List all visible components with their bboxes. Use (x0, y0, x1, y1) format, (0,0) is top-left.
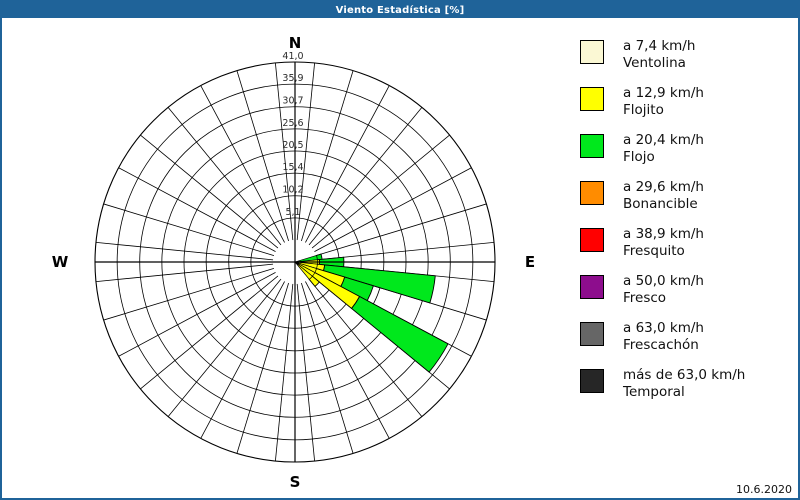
legend-item[interactable]: a 50,0 km/hFresco (580, 273, 795, 314)
legend-item[interactable]: más de 63,0 km/hTemporal (580, 367, 795, 408)
legend-color-swatch (580, 134, 604, 158)
legend-speed-range: a 29,6 km/h (623, 179, 704, 195)
wind-rose-chart: 5,110,215,420,525,630,735,941,0 N S W E (2, 18, 572, 498)
radial-tick-label: 20,5 (282, 140, 303, 151)
radial-tick-label: 25,6 (282, 118, 303, 129)
legend: a 7,4 km/hVentolinaa 12,9 km/hFlojitoa 2… (580, 38, 795, 414)
compass-label-west: W (45, 253, 75, 271)
legend-category-name: Ventolina (623, 55, 695, 72)
legend-item[interactable]: a 63,0 km/hFrescachón (580, 320, 795, 361)
legend-category-name: Flojito (623, 102, 704, 119)
legend-color-swatch (580, 322, 604, 346)
compass-label-south: S (280, 473, 310, 491)
legend-speed-range: a 20,4 km/h (623, 132, 704, 148)
radial-tick-label: 41,0 (282, 51, 303, 62)
legend-speed-range: a 50,0 km/h (623, 273, 704, 289)
legend-color-swatch (580, 275, 604, 299)
date-stamp: 10.6.2020 (736, 483, 792, 496)
legend-color-swatch (580, 228, 604, 252)
compass-label-east: E (515, 253, 545, 271)
legend-category-name: Frescachón (623, 337, 704, 354)
legend-color-swatch (580, 181, 604, 205)
legend-item-label: a 12,9 km/hFlojito (623, 85, 704, 119)
legend-item[interactable]: a 20,4 km/hFlojo (580, 132, 795, 173)
legend-item[interactable]: a 29,6 km/hBonancible (580, 179, 795, 220)
legend-category-name: Bonancible (623, 196, 704, 213)
legend-item[interactable]: a 7,4 km/hVentolina (580, 38, 795, 79)
window-content: 5,110,215,420,525,630,735,941,0 N S W E … (2, 18, 798, 498)
compass-label-north: N (280, 34, 310, 52)
radial-tick-label: 35,9 (282, 73, 303, 84)
wind-rose-svg: 5,110,215,420,525,630,735,941,0 (2, 18, 572, 498)
legend-category-name: Flojo (623, 149, 704, 166)
radial-tick-label: 30,7 (282, 96, 303, 107)
legend-speed-range: a 12,9 km/h (623, 85, 704, 101)
wind-statistics-window: Viento Estadística [%] 5,110,215,420,525… (0, 0, 800, 500)
legend-color-swatch (580, 87, 604, 111)
legend-speed-range: a 38,9 km/h (623, 226, 704, 242)
radial-tick-label: 15,4 (282, 162, 303, 173)
legend-category-name: Temporal (623, 384, 745, 401)
legend-item-label: a 63,0 km/hFrescachón (623, 320, 704, 354)
legend-item-label: a 29,6 km/hBonancible (623, 179, 704, 213)
radial-tick-label: 10,2 (282, 185, 303, 196)
legend-color-swatch (580, 40, 604, 64)
legend-item-label: a 20,4 km/hFlojo (623, 132, 704, 166)
legend-color-swatch (580, 369, 604, 393)
window-titlebar: Viento Estadística [%] (2, 2, 798, 18)
legend-item-label: a 38,9 km/hFresquito (623, 226, 704, 260)
legend-speed-range: a 7,4 km/h (623, 38, 695, 54)
legend-item-label: a 7,4 km/hVentolina (623, 38, 695, 72)
legend-item[interactable]: a 38,9 km/hFresquito (580, 226, 795, 267)
legend-item[interactable]: a 12,9 km/hFlojito (580, 85, 795, 126)
legend-speed-range: a 63,0 km/h (623, 320, 704, 336)
legend-category-name: Fresquito (623, 243, 704, 260)
window-title: Viento Estadística [%] (336, 5, 465, 16)
radial-tick-label: 5,1 (285, 207, 300, 218)
legend-category-name: Fresco (623, 290, 704, 307)
legend-speed-range: más de 63,0 km/h (623, 367, 745, 383)
legend-item-label: a 50,0 km/hFresco (623, 273, 704, 307)
legend-item-label: más de 63,0 km/hTemporal (623, 367, 745, 401)
